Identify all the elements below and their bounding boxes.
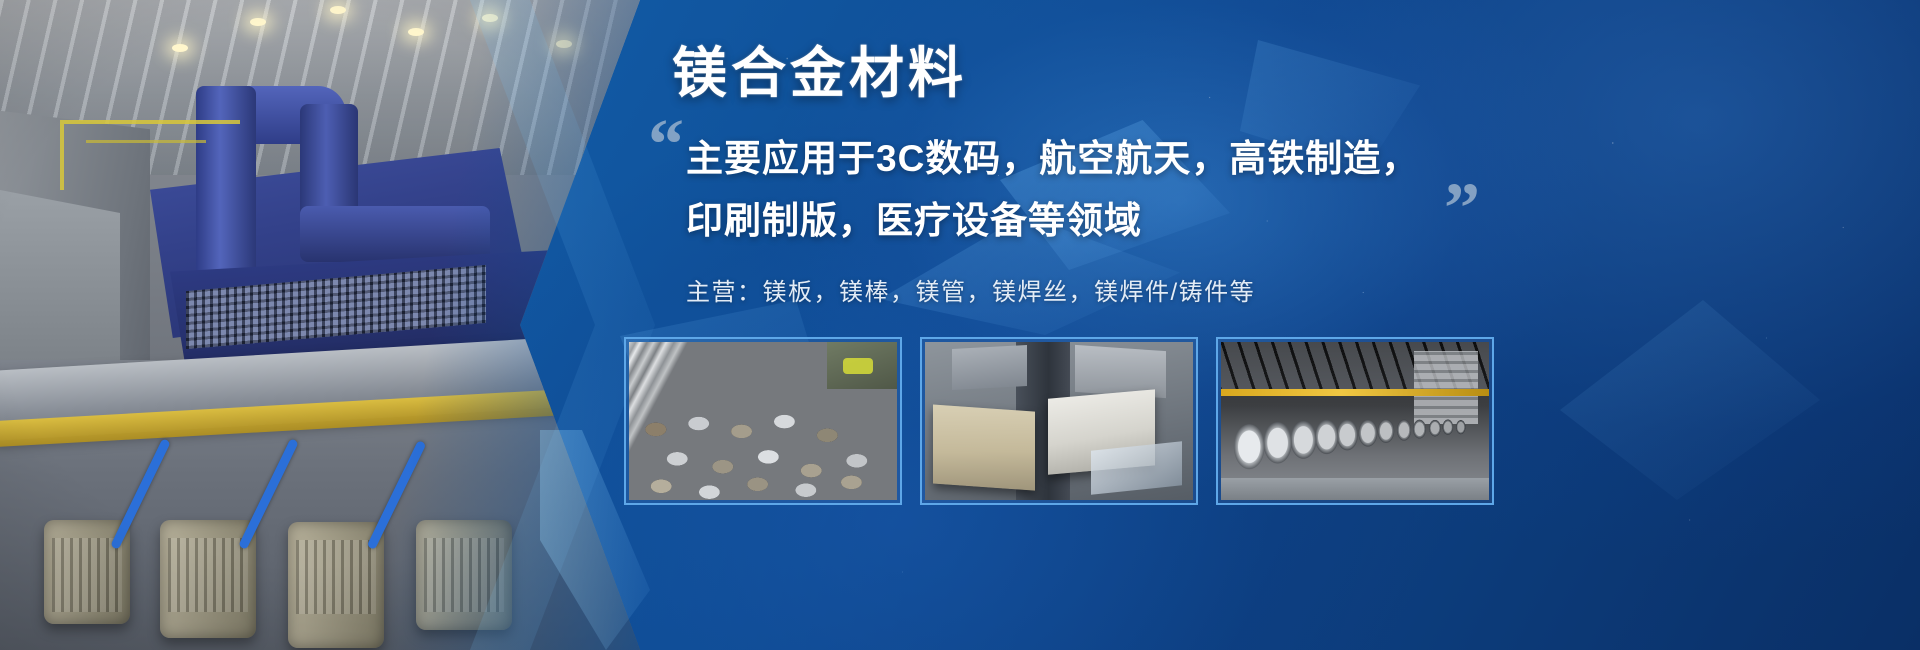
magnesium-bars-thumbnail[interactable] bbox=[624, 337, 902, 505]
quote-open-icon: “ bbox=[648, 108, 684, 180]
magnesium-plates-thumbnail[interactable] bbox=[920, 337, 1198, 505]
banner-content: 镁合金材料 “ ” 主要应用于3C数码，航空航天，高铁制造， 印刷制版，医疗设备… bbox=[672, 0, 1902, 650]
product-thumbnail-strip bbox=[624, 337, 1896, 507]
banner-lead-line-1: 主要应用于3C数码，航空航天，高铁制造， bbox=[686, 128, 1686, 190]
banner-title: 镁合金材料 bbox=[672, 46, 967, 101]
product-banner: 镁合金材料 “ ” 主要应用于3C数码，航空航天，高铁制造， 印刷制版，医疗设备… bbox=[0, 0, 1920, 650]
magnesium-coils-thumbnail[interactable] bbox=[1216, 337, 1494, 505]
banner-subtitle: 主营：镁板，镁棒，镁管，镁焊丝，镁焊件/铸件等 bbox=[686, 272, 1255, 307]
banner-lead-line-2: 印刷制版，医疗设备等领域 bbox=[686, 190, 1686, 252]
banner-lead-text: 主要应用于3C数码，航空航天，高铁制造， 印刷制版，医疗设备等领域 bbox=[686, 128, 1686, 252]
